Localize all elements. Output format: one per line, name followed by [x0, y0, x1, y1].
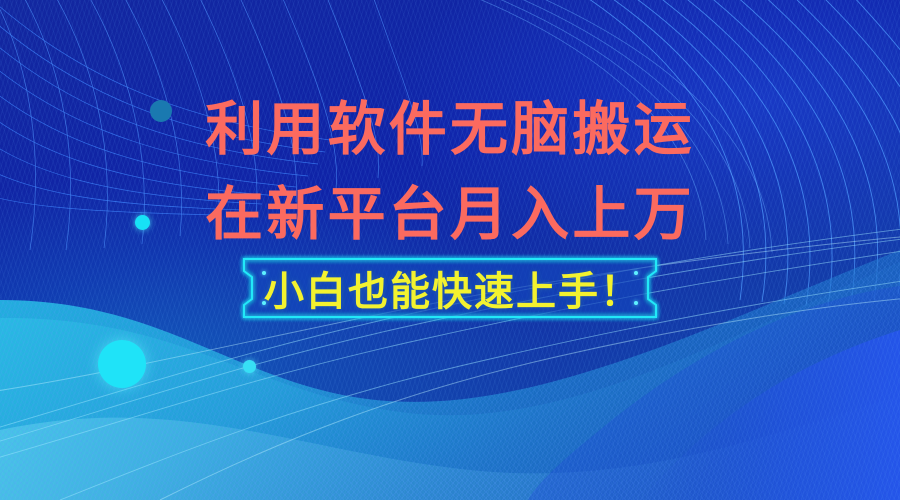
wave-ribbon-right — [640, 330, 900, 500]
headline-line-1: 利用软件无脑搬运 — [0, 98, 900, 160]
background-gradient — [0, 0, 900, 500]
wave-front-mesh — [0, 380, 900, 500]
cyan-tiny-circle-decor — [243, 360, 256, 373]
hatch-texture-secondary — [0, 0, 900, 500]
background-decoration — [0, 0, 900, 500]
promo-poster: 利用软件无脑搬运 在新平台月入上万 小白也能快速上手！ — [0, 0, 900, 500]
wave-front — [0, 396, 900, 500]
cyan-large-circle-decor — [98, 340, 146, 388]
tagline-text: 小白也能快速上手！ — [242, 257, 658, 319]
headline-line-2: 在新平台月入上万 — [0, 183, 900, 245]
hatch-texture — [0, 0, 900, 500]
tagline-banner: 小白也能快速上手！ — [242, 257, 658, 319]
